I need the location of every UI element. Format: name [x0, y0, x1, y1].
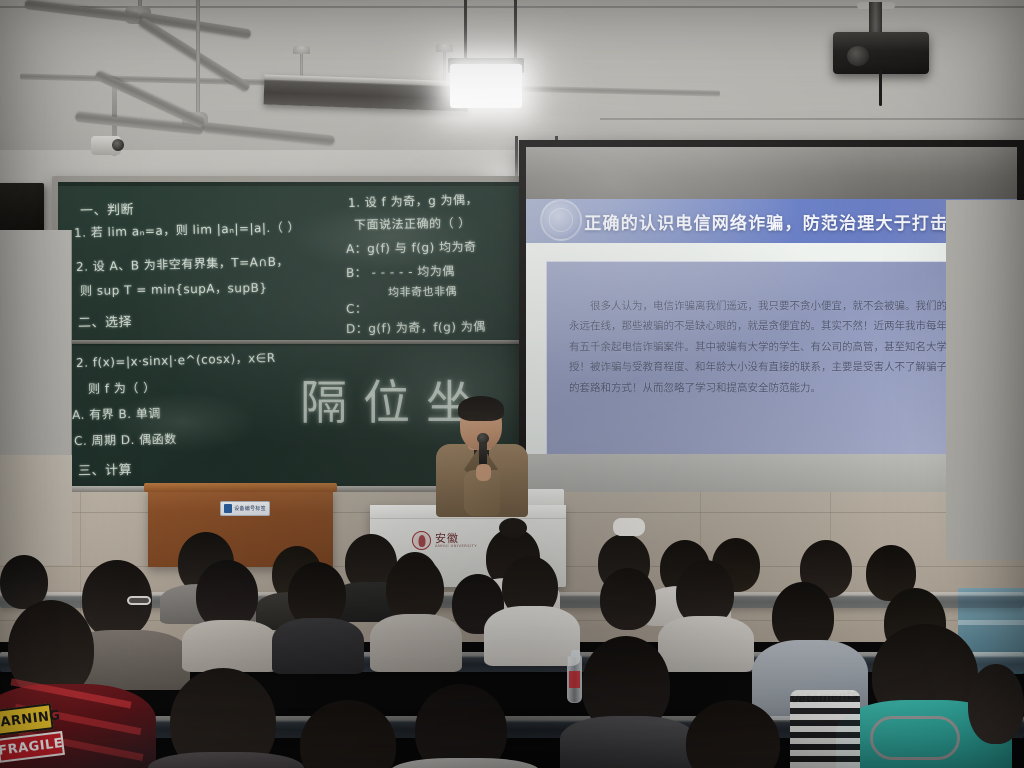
projector-mount-arm: [869, 2, 882, 36]
board-line-ur-3: B： - - - - - 均为偶: [346, 262, 455, 281]
audience-shoulders: [658, 616, 754, 672]
board-line-ul-0: 一、判断: [80, 199, 134, 219]
university-name: 安徽: [435, 533, 477, 544]
hoodie-pattern: [870, 716, 960, 760]
audience-shoulders: [370, 614, 462, 672]
board-line-ur-5: C：: [346, 300, 368, 317]
board-line-ul-2: 2. 设 A、B 为非空有界集，T=A∩B，: [76, 252, 289, 275]
wall-camera-icon: [91, 136, 121, 155]
right-wall-panel: [946, 200, 1024, 560]
board-line-ur-1: 下面说法正确的（ ）: [354, 214, 471, 233]
board-line-ll-3: C. 周期 D. 偶函数: [74, 430, 177, 449]
board-line-ll-4: 三、计算: [78, 459, 132, 479]
warning-patch: WARNING: [0, 703, 54, 736]
audience-shoulders: [560, 716, 696, 768]
water-bottle: [567, 655, 582, 703]
slide-seal-icon: [540, 199, 582, 241]
lecture-hall-photo: 一、判断 1. 若 lim aₙ=a，则 lim |aₙ|=|a|.（ ） 2.…: [0, 0, 1024, 768]
audience-head: [968, 664, 1024, 744]
board-line-ur-4: 均非奇也非偶: [388, 283, 457, 300]
audience-shoulders: [272, 618, 364, 674]
bottle-label: [569, 671, 580, 688]
board-line-ll-0: 2. f(x)=|x·sinx|·e^(cosx)，x∈R: [76, 349, 276, 371]
pendant-lamp-upper: [440, 56, 550, 136]
hair-bow-icon: [613, 518, 645, 536]
slide-title: 正确的认识电信网络诈骗，防范治理大于打击处理: [526, 209, 1017, 234]
board-line-ll-1: 则 f 为（ ）: [88, 379, 156, 397]
presenter-hair: [458, 396, 504, 421]
console-university-branding: 安徽 ANHUI UNIVERSITY: [412, 531, 477, 550]
slide-bottom-band: [526, 454, 1017, 496]
audience-head: [386, 556, 444, 622]
lectern-top: [144, 483, 337, 492]
microphone-icon: [479, 438, 487, 466]
hoodie-white-front: [390, 758, 540, 768]
audience-head: [300, 700, 396, 768]
audience-head: [600, 568, 656, 630]
hair-bun: [499, 518, 527, 538]
audience-shoulders: [148, 752, 304, 768]
board-line-ul-3: 则 sup T = min{supA，supB}: [80, 279, 268, 299]
jacket-patch-badges: WARNING FRAGILE: [0, 702, 65, 763]
left-wall-panel-lower: [0, 455, 72, 565]
bottle-cap: [571, 650, 580, 657]
board-line-ul-1: 1. 若 lim aₙ=a，则 lim |aₙ|=|a|.（ ）: [74, 218, 300, 241]
slide-body: 很多人认为，电信诈骗离我们遥远，我只要不贪小便宜，就不会被骗。我们的智商永远在线…: [526, 243, 1017, 454]
speaker-presenter: [434, 392, 530, 517]
presenter-hand: [476, 464, 491, 481]
eyeglasses-icon: [127, 596, 151, 605]
equipment-label-icon: 设备编号标签: [220, 501, 270, 516]
projection-screen-surface: 正确的认识电信网络诈骗，防范治理大于打击处理 很多人认为，电信诈骗离我们遥远，我…: [526, 147, 1017, 496]
university-name-sub: ANHUI UNIVERSITY: [435, 544, 477, 548]
projector-lens-icon: [847, 46, 869, 66]
audience-head: [415, 684, 507, 768]
red-university-seal-icon: [412, 531, 431, 550]
board-line-ul-4: 二、选择: [78, 311, 132, 331]
board-line-ll-2: A. 有界 B. 单调: [72, 404, 161, 423]
slide-text-box: 很多人认为，电信诈骗离我们遥远，我只要不贪小便宜，就不会被骗。我们的智商永远在线…: [546, 261, 997, 475]
board-line-ur-6: D：g(f) 为奇，f(g) 为偶: [346, 318, 486, 337]
slide-top-band: [526, 147, 1017, 199]
audience-shoulders: [182, 620, 278, 672]
board-line-ur-0: 1. 设 f 为奇，g 为偶，: [348, 191, 478, 211]
board-line-ur-2: A：g(f) 与 f(g) 均为奇: [346, 238, 477, 257]
projector-cable: [879, 70, 882, 106]
hoodie-white: [484, 606, 580, 666]
right-cabinet-shelf: [958, 620, 1024, 625]
slide-title-bar: 正确的认识电信网络诈骗，防范治理大于打击处理: [526, 199, 1017, 243]
striped-shirt: [790, 690, 860, 768]
lectern-sticker-text: 设备编号标签: [234, 505, 266, 512]
blackboard-divider: [58, 340, 533, 344]
slide-paragraph: 很多人认为，电信诈骗离我们遥远，我只要不贪小便宜，就不会被骗。我们的智商永远在线…: [569, 296, 974, 398]
